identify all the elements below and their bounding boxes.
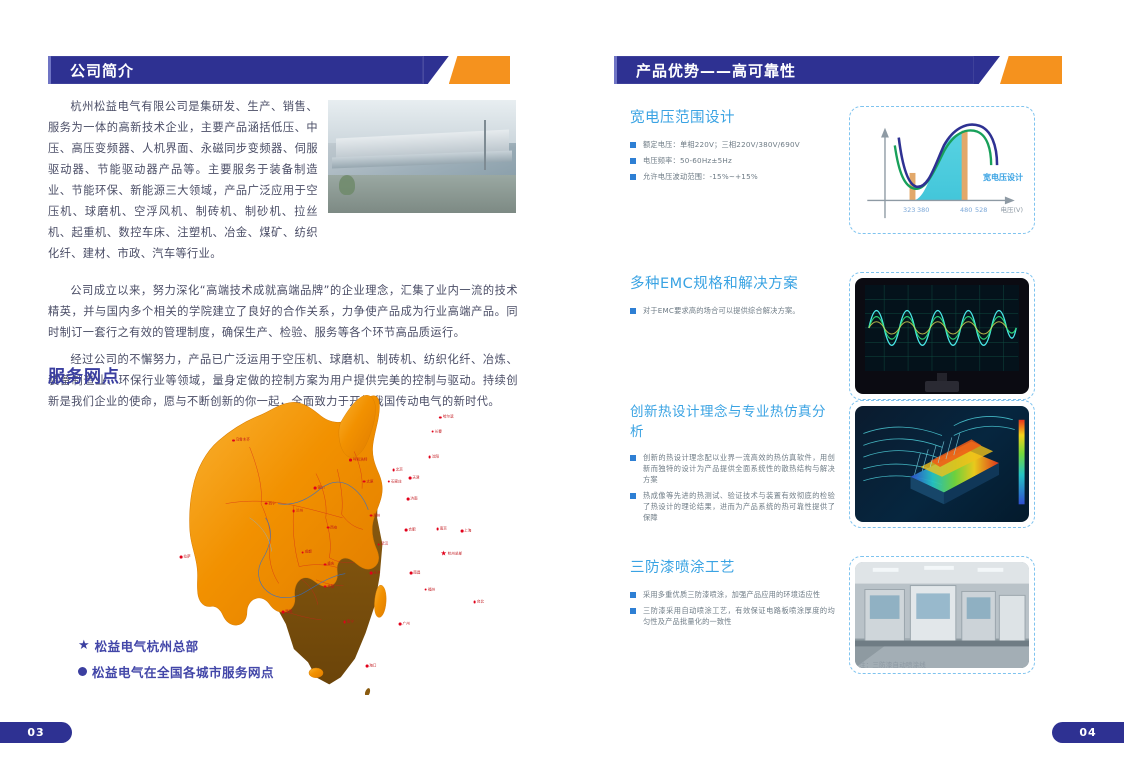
map-city-marker: 贵阳 bbox=[324, 584, 335, 589]
map-city-marker: 西安 bbox=[327, 525, 338, 530]
dot-marker-icon bbox=[78, 667, 87, 676]
dot-marker-icon bbox=[349, 459, 352, 462]
feature-3-bullet-2: 热成像等先进的热测试、验证技术与装置有效彻底的检验了热设计的理论结果，进而为产品… bbox=[630, 490, 835, 523]
feature-4-bullet-2: 三防漆采用自动喷涂工艺，有效保证电路板喷涂厚度的均匀性及产品批量化的一致性 bbox=[630, 605, 835, 627]
chart-marker-bar-480 bbox=[962, 131, 968, 201]
map-city-marker: 成都 bbox=[301, 550, 312, 555]
map-city-marker: 南京 bbox=[436, 526, 447, 531]
machine-window-2 bbox=[916, 593, 950, 619]
map-city-marker: 长沙 bbox=[370, 571, 381, 576]
conveyor-belt bbox=[855, 641, 1029, 647]
map-city-marker: 合肥 bbox=[405, 528, 416, 533]
dot-marker-icon bbox=[370, 514, 373, 517]
map-city-label: 呼和浩特 bbox=[353, 458, 367, 463]
dot-marker-icon bbox=[314, 487, 317, 490]
dot-marker-icon bbox=[461, 530, 464, 533]
thermal-simulation bbox=[855, 406, 1029, 522]
feature-2-bullet-1: 对于EMC要求高的场合可以提供综合解决方案。 bbox=[630, 305, 835, 316]
feature-4-title: 三防漆喷涂工艺 bbox=[630, 556, 835, 577]
dot-marker-icon bbox=[399, 623, 402, 626]
dot-marker-icon bbox=[324, 585, 327, 588]
feature-emc: 多种EMC规格和解决方案 对于EMC要求高的场合可以提供综合解决方案。 bbox=[630, 272, 1035, 400]
chart-annotation-wide-voltage: 宽电压设计 bbox=[983, 172, 1023, 183]
map-city-headquarters: ★杭州总部 bbox=[440, 551, 462, 558]
waveform-grid bbox=[865, 285, 1018, 371]
map-city-label: 南京 bbox=[440, 526, 447, 531]
dot-marker-icon bbox=[327, 526, 330, 529]
company-intro-header: 公司简介 bbox=[48, 56, 510, 84]
feature-3-bullet-1: 创新的热设计理念配以业界一流高效的热仿真软件，用创新而独特的设计为产品提供全面系… bbox=[630, 452, 835, 485]
map-legend: ★ 松益电气杭州总部 松益电气在全国各城市服务网点 bbox=[78, 636, 274, 688]
map-city-label: 成都 bbox=[305, 550, 312, 555]
map-city-marker: 广州 bbox=[399, 622, 410, 627]
dot-marker-icon bbox=[431, 430, 434, 433]
map-city-marker: 郑州 bbox=[370, 513, 381, 518]
thermal-sim-svg bbox=[855, 406, 1029, 522]
map-city-marker: 西宁 bbox=[265, 501, 276, 506]
feature-1-bullets: 额定电压：单相220V；三相220V/380V/690V 电压频率：50-60H… bbox=[630, 139, 835, 182]
feature-1-bullet-3: 允许电压波动范围：-15%~+15% bbox=[630, 171, 835, 182]
header-bar-right: 产品优势——高可靠性 bbox=[614, 56, 974, 84]
map-city-marker: 乌鲁木齐 bbox=[232, 438, 250, 443]
map-city-label: 西宁 bbox=[269, 501, 276, 506]
dot-marker-icon bbox=[301, 551, 304, 554]
map-city-label: 重庆 bbox=[327, 562, 334, 567]
feature-1-bullet-2: 电压频率：50-60Hz±5Hz bbox=[630, 155, 835, 166]
intro-first-text: 杭州松益电气有限公司是集研发、生产、销售、服务为一体的高新技术企业，主要产品涵括… bbox=[48, 96, 318, 270]
intro-paragraph-2: 公司成立以来，努力深化“高端技术成就高端品牌”的企业理念，汇集了业内一流的技术精… bbox=[48, 280, 518, 343]
map-city-marker: 银川 bbox=[314, 486, 325, 491]
dot-marker-icon bbox=[343, 621, 346, 624]
product-advantage-title: 产品优势——高可靠性 bbox=[614, 60, 814, 81]
dot-marker-icon bbox=[377, 543, 380, 546]
photo-ground bbox=[328, 175, 516, 213]
coating-line-svg bbox=[855, 562, 1029, 668]
map-city-label: 昆明 bbox=[285, 609, 292, 614]
map-city-label: 合肥 bbox=[408, 528, 415, 533]
chart-tick-323: 323 bbox=[903, 206, 915, 214]
map-city-label: 太原 bbox=[366, 479, 373, 484]
machine-window-1 bbox=[870, 595, 900, 619]
coating-line-photo bbox=[855, 562, 1029, 668]
star-marker-icon: ★ bbox=[440, 551, 446, 558]
map-city-marker: 沈阳 bbox=[428, 455, 439, 460]
dot-marker-icon bbox=[265, 502, 268, 505]
feature-conformal-coating: 三防漆喷涂工艺 采用多重优质三防漆喷涂，加强产品应用的环境适应性 三防漆采用自动… bbox=[630, 556, 1035, 674]
page-number-right: 04 bbox=[1052, 722, 1124, 743]
map-city-label: 济南 bbox=[410, 497, 417, 502]
map-city-marker: 海口 bbox=[366, 664, 377, 669]
map-city-marker: 太原 bbox=[363, 479, 374, 484]
feature-2-text: 多种EMC规格和解决方案 对于EMC要求高的场合可以提供综合解决方案。 bbox=[630, 272, 835, 400]
feature-thermal-design: 创新热设计理念与专业热仿真分析 创新的热设计理念配以业界一流高效的热仿真软件，用… bbox=[630, 400, 1035, 528]
map-city-label: 乌鲁木齐 bbox=[236, 438, 250, 443]
map-city-marker: 兰州 bbox=[292, 509, 303, 514]
map-city-label: 哈尔滨 bbox=[443, 415, 454, 420]
feature-3-title: 创新热设计理念与专业热仿真分析 bbox=[630, 400, 835, 440]
map-city-label: 银川 bbox=[317, 486, 324, 491]
dot-marker-icon bbox=[428, 456, 431, 459]
feature-4-bullets: 采用多重优质三防漆喷涂，加强产品应用的环境适应性 三防漆采用自动喷涂工艺，有效保… bbox=[630, 589, 835, 627]
feature-1-bullet-1: 额定电压：单相220V；三相220V/380V/690V bbox=[630, 139, 835, 150]
dot-marker-icon bbox=[407, 498, 410, 501]
feature-2-image-frame bbox=[849, 272, 1035, 400]
intro-first-block: 杭州松益电气有限公司是集研发、生产、销售、服务为一体的高新技术企业，主要产品涵括… bbox=[48, 96, 518, 270]
dot-marker-icon bbox=[410, 572, 413, 575]
feature-3-text: 创新热设计理念与专业热仿真分析 创新的热设计理念配以业界一流高效的热仿真软件，用… bbox=[630, 400, 835, 528]
photo-tree bbox=[339, 175, 355, 195]
legend-label-headquarters: 松益电气杭州总部 bbox=[95, 636, 199, 655]
feature-2-bullets: 对于EMC要求高的场合可以提供综合解决方案。 bbox=[630, 305, 835, 316]
map-city-label: 海口 bbox=[369, 664, 376, 669]
dot-marker-icon bbox=[387, 480, 390, 483]
header-bar: 公司简介 bbox=[48, 56, 423, 84]
header-slant bbox=[423, 56, 449, 84]
waveform-svg bbox=[865, 285, 1018, 371]
legend-item-headquarters: ★ 松益电气杭州总部 bbox=[78, 636, 274, 655]
map-city-label: 台北 bbox=[477, 600, 484, 605]
map-city-label: 南宁 bbox=[347, 619, 354, 624]
machine-window-3 bbox=[967, 597, 991, 619]
feature-wide-voltage: 宽电压范围设计 额定电压：单相220V；三相220V/380V/690V 电压频… bbox=[630, 106, 1035, 234]
emc-waveform-monitor bbox=[855, 278, 1029, 394]
dot-marker-icon bbox=[424, 588, 427, 591]
service-network-title: 服务网点 bbox=[48, 362, 120, 387]
feature-4-text: 三防漆喷涂工艺 采用多重优质三防漆喷涂，加强产品应用的环境适应性 三防漆采用自动… bbox=[630, 556, 835, 674]
map-city-marker: 福州 bbox=[424, 587, 435, 592]
legend-item-service-points: 松益电气在全国各城市服务网点 bbox=[78, 662, 274, 681]
legend-label-service-points: 松益电气在全国各城市服务网点 bbox=[92, 662, 274, 681]
map-city-label: 沈阳 bbox=[432, 455, 439, 460]
map-city-marker: 南宁 bbox=[343, 619, 354, 624]
dot-marker-icon bbox=[324, 563, 327, 566]
dot-marker-icon bbox=[292, 510, 295, 513]
factory-photo bbox=[328, 100, 516, 213]
feature-1-text: 宽电压范围设计 额定电压：单相220V；三相220V/380V/690V 电压频… bbox=[630, 106, 835, 234]
chart-tick-480: 480 bbox=[960, 206, 972, 214]
feature-4-caption: 注：三防漆自动喷涂线 bbox=[859, 659, 926, 669]
product-advantage-header: 产品优势——高可靠性 bbox=[614, 56, 1062, 84]
map-city-marker: 重庆 bbox=[324, 562, 335, 567]
feature-4-bullet-1: 采用多重优质三防漆喷涂，加强产品应用的环境适应性 bbox=[630, 589, 835, 600]
map-city-label: 广州 bbox=[403, 622, 410, 627]
map-city-label: 武汉 bbox=[381, 542, 388, 547]
map-city-label: 上海 bbox=[464, 529, 471, 534]
voltage-range-chart: 323 380 480 528 电压(V) 宽电压设计 bbox=[855, 112, 1029, 228]
map-city-marker: 长春 bbox=[431, 429, 442, 434]
map-city-label: 长沙 bbox=[373, 571, 380, 576]
dot-marker-icon bbox=[409, 477, 412, 480]
feature-3-bullets: 创新的热设计理念配以业界一流高效的热仿真软件，用创新而独特的设计为产品提供全面系… bbox=[630, 452, 835, 523]
map-city-label: 石家庄 bbox=[391, 479, 402, 484]
intro-paragraph-1: 杭州松益电气有限公司是集研发、生产、销售、服务为一体的高新技术企业，主要产品涵括… bbox=[48, 96, 318, 264]
map-city-label: 天津 bbox=[412, 476, 419, 481]
dot-marker-icon bbox=[405, 529, 408, 532]
dot-marker-icon bbox=[473, 601, 476, 604]
map-city-marker: 北京 bbox=[392, 468, 403, 473]
machine-cabinet-4 bbox=[999, 595, 1025, 642]
dot-marker-icon bbox=[232, 439, 235, 442]
map-city-marker: 昆明 bbox=[282, 609, 293, 614]
header-slant-right bbox=[974, 56, 1000, 84]
dot-marker-icon bbox=[366, 665, 369, 668]
feature-1-title: 宽电压范围设计 bbox=[630, 106, 835, 127]
map-city-marker: 石家庄 bbox=[387, 479, 401, 484]
page-number-left: 03 bbox=[0, 722, 72, 743]
thermal-module bbox=[911, 439, 999, 504]
feature-4-image-frame: 注：三防漆自动喷涂线 bbox=[849, 556, 1035, 674]
map-city-label: 南昌 bbox=[413, 571, 420, 576]
star-marker-icon: ★ bbox=[78, 639, 90, 652]
chart-y-arrow bbox=[881, 128, 889, 138]
photo-pole bbox=[484, 120, 486, 170]
company-intro-title: 公司简介 bbox=[48, 60, 152, 81]
dot-marker-icon bbox=[436, 528, 439, 531]
chart-tick-380: 380 bbox=[917, 206, 929, 214]
feature-2-title: 多种EMC规格和解决方案 bbox=[630, 272, 835, 293]
photo-ceiling bbox=[855, 562, 1029, 584]
monitor-stand bbox=[925, 381, 960, 391]
map-city-marker: 上海 bbox=[461, 529, 472, 534]
map-city-marker: 南昌 bbox=[410, 571, 421, 576]
map-city-label: 贵阳 bbox=[327, 584, 334, 589]
map-city-label: 郑州 bbox=[373, 513, 380, 518]
map-city-label: 福州 bbox=[428, 587, 435, 592]
map-city-label: 拉萨 bbox=[183, 554, 190, 559]
feature-3-image-frame bbox=[849, 400, 1035, 528]
dot-marker-icon bbox=[363, 480, 366, 483]
header-orange-accent bbox=[449, 56, 510, 84]
map-city-marker: 台北 bbox=[473, 600, 484, 605]
header-orange-accent-right bbox=[1000, 56, 1062, 84]
map-city-label: 北京 bbox=[396, 468, 403, 473]
feature-1-image-frame: 323 380 480 528 电压(V) 宽电压设计 bbox=[849, 106, 1035, 234]
dot-marker-icon bbox=[439, 416, 442, 419]
map-city-label: 杭州总部 bbox=[448, 552, 462, 557]
map-city-marker: 济南 bbox=[407, 497, 418, 502]
chart-tick-528: 528 bbox=[975, 206, 987, 214]
monitor-screen bbox=[865, 285, 1018, 371]
map-city-marker: 呼和浩特 bbox=[349, 458, 367, 463]
dot-marker-icon bbox=[282, 610, 285, 613]
map-city-label: 兰州 bbox=[296, 509, 303, 514]
map-city-marker: 拉萨 bbox=[180, 554, 191, 559]
map-city-marker: 武汉 bbox=[377, 542, 388, 547]
left-page: 公司简介 杭州松益电气有限公司是集研发、生产、销售、服务为一体的高新技术企业，主… bbox=[0, 0, 562, 765]
map-city-marker: 天津 bbox=[409, 476, 420, 481]
dot-marker-icon bbox=[370, 572, 373, 575]
dot-marker-icon bbox=[180, 556, 183, 559]
map-city-label: 长春 bbox=[435, 429, 442, 434]
chart-shaded-region bbox=[913, 132, 964, 201]
chart-x-axis-label: 电压(V) bbox=[1000, 204, 1023, 214]
map-city-marker: 哈尔滨 bbox=[439, 415, 453, 420]
dot-marker-icon bbox=[392, 469, 395, 472]
thermal-colorbar bbox=[1019, 420, 1025, 505]
right-page: 产品优势——高可靠性 宽电压范围设计 额定电压：单相220V；三相220V/38… bbox=[562, 0, 1124, 765]
map-city-label: 西安 bbox=[330, 525, 337, 530]
